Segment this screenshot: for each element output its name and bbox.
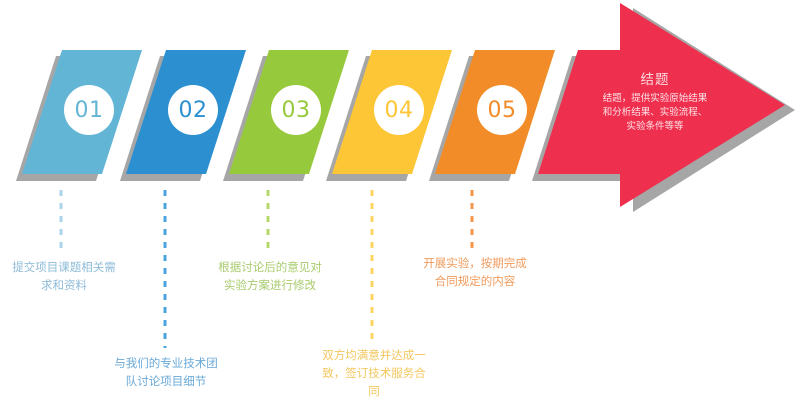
step-number-label: 01 xyxy=(75,98,104,123)
step-badge-5[interactable]: 05 xyxy=(477,85,527,135)
infographic-canvas: 01 02 03 04 05 结题 结题，提供实验原始结果和分析结果、实验流程、… xyxy=(0,0,805,410)
step-badge-2[interactable]: 02 xyxy=(168,85,218,135)
step-caption-4: 双方均满意并达成一致，签订技术服务合同 xyxy=(318,347,430,400)
step-number-label: 05 xyxy=(488,98,517,123)
step-badge-4[interactable]: 04 xyxy=(374,85,424,135)
step-caption-3: 根据讨论后的意见对实验方案进行修改 xyxy=(214,259,326,295)
diagram-stage: 01 02 03 04 05 结题 结题，提供实验原始结果和分析结果、实验流程、… xyxy=(0,0,805,410)
step-caption-1: 提交项目课题相关需求和资料 xyxy=(8,259,120,295)
step-badge-3[interactable]: 03 xyxy=(271,85,321,135)
step-number-label: 04 xyxy=(385,98,414,123)
step-caption-5: 开展实验，按期完成合同规定的内容 xyxy=(419,255,531,291)
step-number-label: 02 xyxy=(179,98,208,123)
step-caption-2: 与我们的专业技术团队讨论项目细节 xyxy=(110,355,222,391)
step-number-label: 03 xyxy=(282,98,311,123)
step-badge-1[interactable]: 01 xyxy=(64,85,114,135)
summary-arrow-title: 结题 xyxy=(580,68,730,88)
summary-arrow-description: 结题，提供实验原始结果和分析结果、实验流程、实验条件等等 xyxy=(602,92,708,133)
